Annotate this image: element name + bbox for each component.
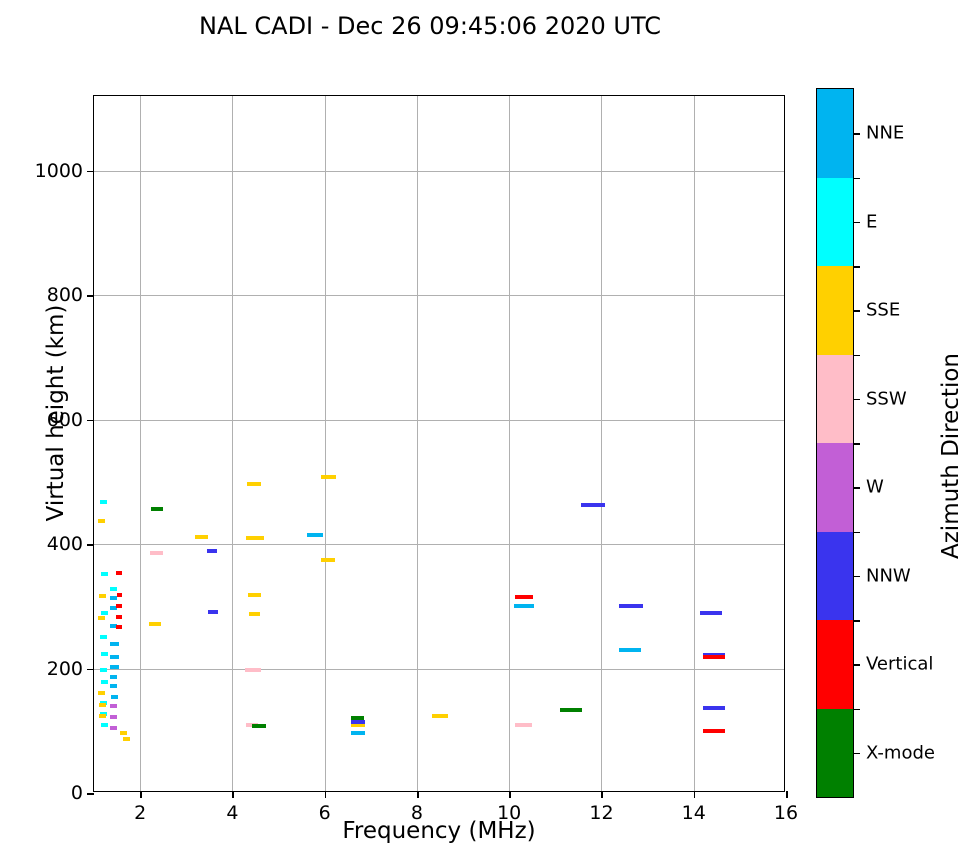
data-point-nne — [110, 675, 117, 679]
y-tick-mark — [87, 669, 94, 671]
colorbar-boundary-tick — [853, 709, 860, 711]
colorbar-boundary-tick — [853, 443, 860, 445]
colorbar-boundary-tick — [853, 178, 860, 180]
colorbar-segment-nnw[interactable] — [817, 532, 853, 621]
data-point-nnw — [581, 503, 605, 507]
data-point-sse — [321, 558, 335, 562]
y-tick-mark — [87, 171, 94, 173]
data-point-nne — [111, 695, 118, 699]
data-point-nne — [110, 655, 119, 659]
data-point-vertical — [116, 625, 122, 629]
data-point-vertical — [116, 571, 122, 575]
data-point-sse — [246, 536, 264, 540]
y-axis-label: Virtual height (km) — [43, 253, 69, 573]
data-point-e — [110, 587, 117, 591]
data-point-sse — [432, 714, 448, 718]
data-point-e — [101, 572, 108, 576]
page-title: NAL CADI - Dec 26 09:45:06 2020 UTC — [0, 12, 860, 40]
colorbar-segment-x-mode[interactable] — [817, 709, 853, 798]
colorbar-segment-sse[interactable] — [817, 266, 853, 355]
data-point-nne — [514, 604, 534, 608]
colorbar-label-ssw: SSW — [866, 388, 907, 409]
data-point-e — [101, 611, 108, 615]
colorbar-boundary-tick — [853, 266, 860, 268]
data-point-e — [100, 668, 107, 672]
colorbar-segment-vertical[interactable] — [817, 620, 853, 709]
data-point-nnw — [207, 549, 217, 553]
y-tick-label: 1000 — [35, 160, 83, 182]
data-point-x-mode — [151, 507, 163, 511]
data-point-sse — [249, 612, 260, 616]
data-points-layer — [94, 96, 784, 791]
colorbar-tick — [853, 753, 860, 755]
data-point-sse — [99, 594, 106, 598]
x-tick-mark — [601, 791, 603, 798]
data-point-w — [110, 715, 117, 719]
data-point-sse — [98, 691, 105, 695]
x-tick-mark — [232, 791, 234, 798]
y-tick-mark — [87, 420, 94, 422]
colorbar-boundary-tick — [853, 355, 860, 357]
colorbar-label-e: E — [866, 211, 877, 232]
data-point-e — [101, 652, 108, 656]
data-point-nnw — [351, 720, 365, 724]
data-point-nnw — [619, 604, 643, 608]
data-point-x-mode — [351, 716, 364, 720]
colorbar-label-nne: NNE — [866, 123, 904, 144]
colorbar-boundary-tick — [853, 620, 860, 622]
data-point-sse — [247, 482, 261, 486]
data-point-nne — [307, 533, 323, 537]
data-point-vertical — [117, 593, 122, 597]
data-point-x-mode — [560, 708, 582, 712]
colorbar-tick — [853, 487, 860, 489]
y-tick-mark — [87, 793, 94, 795]
x-tick-mark — [140, 791, 142, 798]
colorbar-tick — [853, 310, 860, 312]
y-tick-label: 200 — [47, 658, 83, 680]
data-point-nne — [110, 642, 119, 646]
data-point-nne — [110, 684, 117, 688]
data-point-ssw — [515, 723, 532, 727]
data-point-x-mode — [252, 724, 266, 728]
data-point-w — [110, 704, 117, 708]
colorbar-segment-ssw[interactable] — [817, 355, 853, 444]
x-tick-mark — [786, 791, 788, 798]
data-point-w — [110, 726, 117, 730]
colorbar-label-w: W — [866, 477, 884, 498]
colorbar-label-vertical: Vertical — [866, 654, 933, 675]
data-point-e — [101, 680, 108, 684]
colorbar-tick — [853, 133, 860, 135]
data-point-e — [101, 723, 108, 727]
colorbar-label-nnw: NNW — [866, 565, 911, 586]
colorbar-boundary-tick — [853, 532, 860, 534]
colorbar-title: Azimuth Direction — [938, 291, 958, 621]
data-point-sse — [120, 731, 127, 735]
data-point-vertical — [116, 604, 122, 608]
data-point-sse — [123, 737, 130, 741]
colorbar-label-x-mode: X-mode — [866, 742, 935, 763]
colorbar-tick — [853, 576, 860, 578]
data-point-sse — [149, 622, 161, 626]
colorbar-tick — [853, 664, 860, 666]
data-point-e — [100, 500, 107, 504]
colorbar-segment-w[interactable] — [817, 443, 853, 532]
x-tick-mark — [417, 791, 419, 798]
data-point-vertical — [703, 729, 725, 733]
y-tick-mark — [87, 544, 94, 546]
data-point-vertical — [116, 615, 122, 619]
x-tick-mark — [509, 791, 511, 798]
colorbar-label-sse: SSE — [866, 300, 900, 321]
data-point-sse — [195, 535, 208, 539]
x-axis-label: Frequency (MHz) — [93, 818, 785, 844]
x-tick-mark — [325, 791, 327, 798]
data-point-sse — [98, 616, 105, 620]
data-point-vertical — [703, 655, 725, 659]
colorbar-tick — [853, 222, 860, 224]
data-point-nnw — [208, 610, 218, 614]
azimuth-colorbar[interactable]: NNEESSESSWWNNWVerticalX-mode — [816, 88, 854, 798]
data-point-nne — [351, 731, 365, 735]
data-point-sse — [321, 475, 336, 479]
data-point-nnw — [703, 706, 725, 710]
data-point-nne — [110, 665, 119, 669]
x-tick-mark — [694, 791, 696, 798]
data-point-nne — [619, 648, 641, 652]
data-point-sse — [99, 714, 106, 718]
colorbar-segment-e[interactable] — [817, 178, 853, 267]
data-point-sse — [98, 519, 105, 523]
y-tick-label: 0 — [71, 782, 83, 804]
data-point-sse — [99, 703, 106, 707]
data-point-e — [100, 635, 107, 639]
data-point-ssw — [245, 668, 261, 672]
data-point-nnw — [700, 611, 722, 615]
y-tick-mark — [87, 295, 94, 297]
data-point-ssw — [150, 551, 163, 555]
data-point-vertical — [515, 595, 533, 599]
data-point-sse — [248, 593, 261, 597]
colorbar-segment-nne[interactable] — [817, 89, 853, 178]
colorbar-tick — [853, 399, 860, 401]
plot-area: 02004006008001000246810121416 — [93, 95, 785, 792]
